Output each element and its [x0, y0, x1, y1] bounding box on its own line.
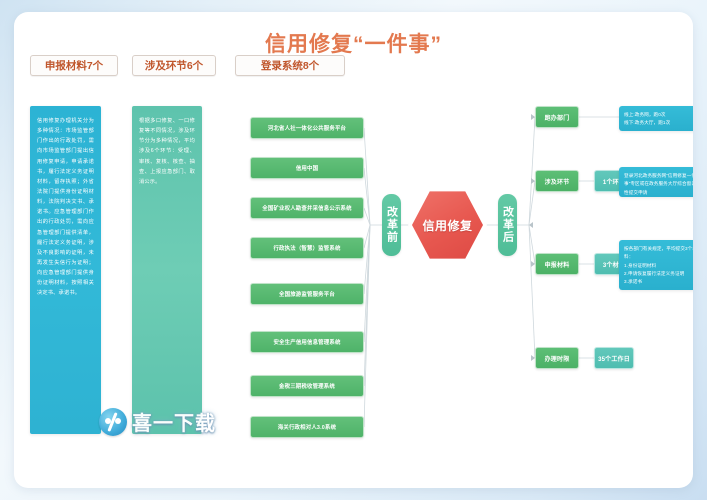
- watermark: 喜一下载: [99, 407, 216, 436]
- after-detail-steps: 登录河北政务服务网“信用修复一件事”专区或在政务服务大厅综合窗口一次性提交申请: [619, 167, 693, 197]
- after-node-steps: 涉及环节: [535, 170, 579, 192]
- system-box: 信用中国: [250, 157, 364, 179]
- core-label: 信用修复: [422, 217, 472, 234]
- detail-line: 登录河北政务服务网“信用修复一件事”专区或在政务服务大厅综合窗口一次性提交申请: [624, 172, 693, 197]
- chip-declared-materials: 申报材料7个: [30, 55, 118, 76]
- system-box: 行政执法（智慧）监管系统: [250, 237, 364, 259]
- system-box: 全国矿业权人勘查并采信息公示系统: [250, 197, 364, 219]
- system-box: 全国旅游监管服务平台: [250, 283, 364, 305]
- label-after-reform: 改革后: [498, 194, 517, 256]
- detail-line: 线上:政务网，跑0次: [624, 111, 693, 119]
- panda-circle-icon: [99, 408, 127, 436]
- after-detail-departments: 线上:政务网，跑0次 线下:政务大厅，跑1次: [619, 106, 693, 131]
- page-title: 信用修复“一件事”: [14, 28, 693, 58]
- detail-line: 线下:政务大厅，跑1次: [624, 119, 693, 127]
- system-box: 金税三期税收管理系统: [250, 375, 364, 397]
- after-count-deadline: 35个工作日: [594, 347, 634, 369]
- watermark-label: 喜一下载: [132, 407, 216, 436]
- diagram-stage: 信用修复“一件事” 申报材料7个 涉及环节6个 登录系统8个 信用修复办理机关分…: [14, 12, 693, 488]
- detail-line: 3.承诺书: [624, 278, 693, 286]
- before-materials-column: 信用修复办理机关分为多种情况：市场监管部门作出的行政处罚，需向市场监管部门提出信…: [30, 106, 101, 434]
- after-node-materials: 申报材料: [535, 253, 579, 275]
- before-steps-column: 根据多口修复、一口修复等不同情况，涉及环节分为多种情况，平均涉及6个环节：受理、…: [132, 106, 202, 434]
- label-before-reform: 改革前: [382, 194, 401, 256]
- after-detail-materials: 按各部门有关规定，平均提交3个材料： 1.身份证明材料 2.申请恢复履行法定义务…: [619, 240, 693, 290]
- chip-involved-steps: 涉及环节6个: [132, 55, 216, 76]
- after-node-deadline: 办理时限: [535, 347, 579, 369]
- before-materials-text: 信用修复办理机关分为多种情况：市场监管部门作出的行政处罚，需向市场监管部门提出信…: [37, 116, 94, 299]
- detail-line: 2.申请恢复履行法定义务证明: [624, 270, 693, 278]
- detail-line: 1.身份证明材料: [624, 262, 693, 270]
- core-hexagon-credit-repair: 信用修复: [408, 186, 487, 264]
- system-box: 海关行政相对人3.0系统: [250, 416, 364, 438]
- before-steps-text: 根据多口修复、一口修复等不同情况，涉及环节分为多种情况，平均涉及6个环节：受理、…: [139, 116, 195, 187]
- system-box: 安全生产信用信息管理系统: [250, 331, 364, 353]
- detail-line: 按各部门有关规定，平均提交3个材料：: [624, 245, 693, 262]
- chip-login-systems: 登录系统8个: [235, 55, 345, 76]
- system-box: 河北省人社一体化公共服务平台: [250, 117, 364, 139]
- diagram-card: 信用修复“一件事” 申报材料7个 涉及环节6个 登录系统8个 信用修复办理机关分…: [14, 12, 693, 488]
- after-node-departments: 跑办部门: [535, 106, 579, 128]
